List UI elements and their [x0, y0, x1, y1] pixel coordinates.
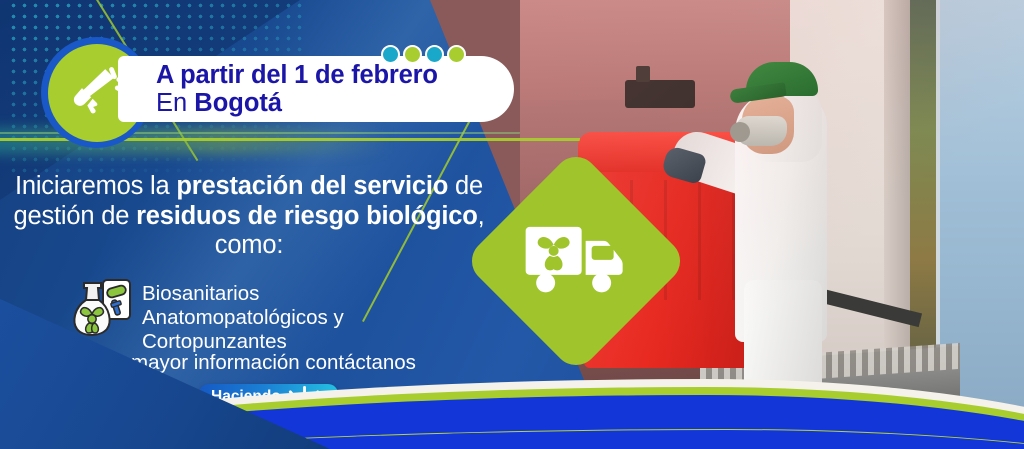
- truck-vent-bracket: [636, 66, 650, 82]
- decorative-dot-row: [381, 45, 466, 64]
- dot-green-2: [447, 45, 466, 64]
- header-line-1: A partir del 1 de febrero: [156, 62, 514, 88]
- header-ribbon: A partir del 1 de febrero En Bogotá: [118, 56, 514, 122]
- header-line-2-prefix: En: [156, 89, 194, 117]
- headline-bold-2: residuos de riesgo biológico: [136, 202, 478, 230]
- biohazard-waste-bag-icon: [70, 278, 132, 343]
- headline-bold-1: prestación del servicio: [176, 172, 448, 200]
- waste-types-text: Biosanitarios Anatomopatológicos y Corto…: [142, 278, 344, 353]
- header-line-2: En Bogotá: [156, 90, 514, 116]
- waste-type-1: Biosanitarios: [142, 282, 344, 306]
- dot-teal-2: [425, 45, 444, 64]
- waste-type-3: Cortopunzantes: [142, 330, 344, 354]
- headline: Iniciaremos la prestación del servicio d…: [6, 172, 492, 261]
- promo-banner: A partir del 1 de febrero En Bogotá Inic…: [0, 0, 1024, 449]
- worker-legs: [744, 280, 822, 390]
- dot-teal-1: [381, 45, 400, 64]
- waste-types-list: Biosanitarios Anatomopatológicos y Corto…: [70, 278, 490, 353]
- biohazard-truck-icon: [524, 221, 628, 302]
- truck-vent: [625, 80, 695, 108]
- dot-green-1: [403, 45, 422, 64]
- waste-type-2: Anatomopatológicos y: [142, 306, 344, 330]
- header-city: Bogotá: [194, 89, 282, 117]
- respirator-filter: [730, 122, 750, 142]
- headline-part-1: Iniciaremos la: [15, 172, 176, 200]
